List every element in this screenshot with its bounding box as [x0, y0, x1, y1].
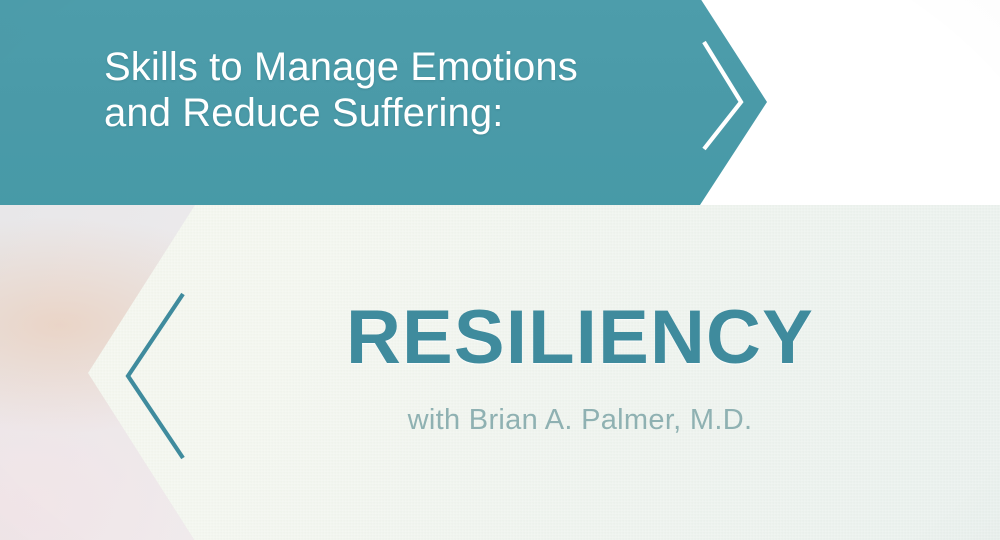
presenter-byline: with Brian A. Palmer, M.D. [0, 404, 1000, 437]
title-slide: Skills to Manage Emotions and Reduce Suf… [0, 0, 1000, 540]
chevron-right-icon [697, 33, 753, 171]
banner-headline: Skills to Manage Emotions and Reduce Suf… [104, 44, 684, 137]
page-title: RESILIENCY [0, 300, 1000, 376]
